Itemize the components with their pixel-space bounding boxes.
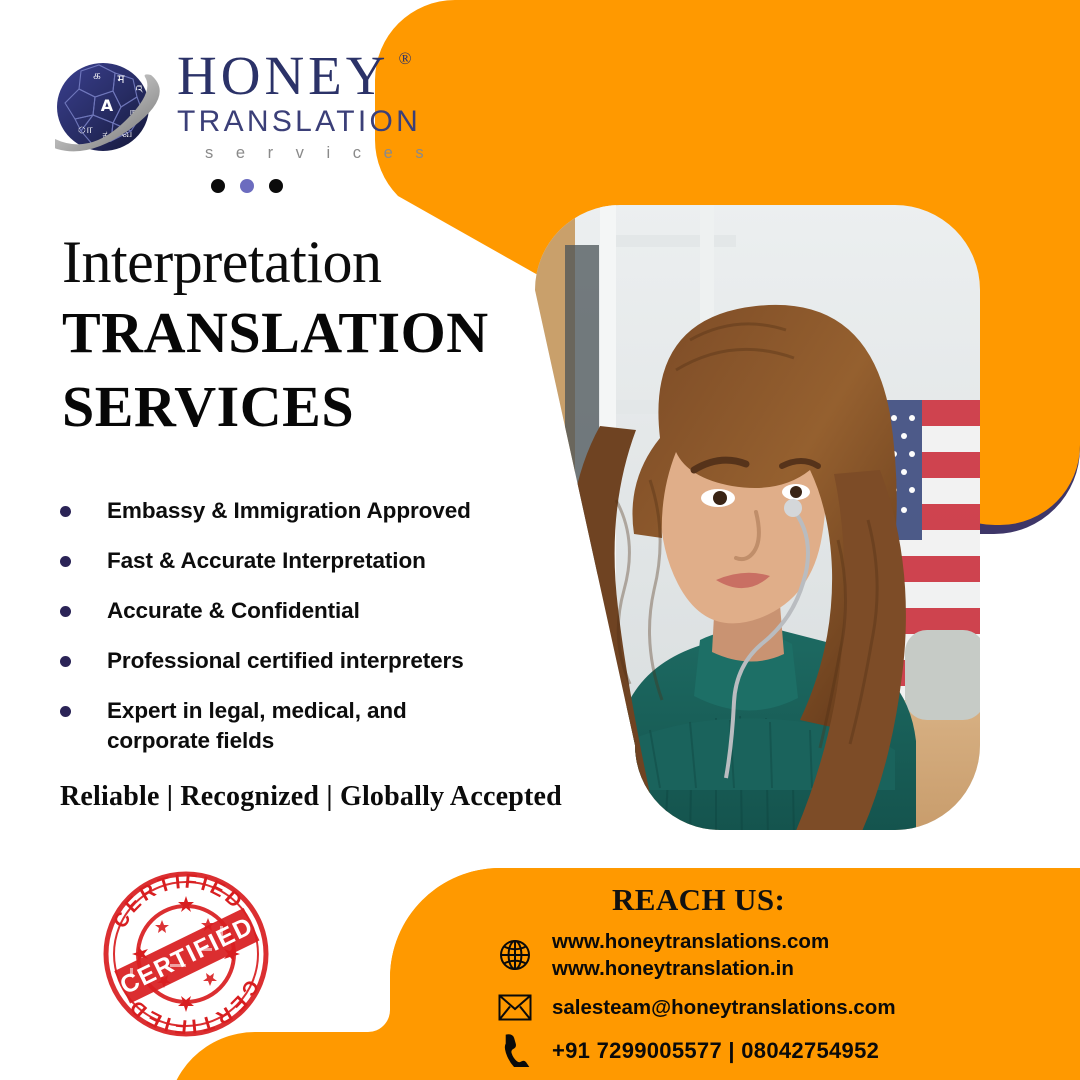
list-item: Fast & Accurate Interpretation [55, 546, 545, 576]
list-item: Expert in legal, medical, and corporate … [55, 696, 545, 756]
contact-row-email[interactable]: salesteam@honeytranslations.com [494, 994, 1014, 1021]
email-address[interactable]: salesteam@honeytranslations.com [552, 994, 896, 1021]
phone-numbers[interactable]: +91 7299005577 | 08042754952 [552, 1036, 879, 1065]
brand-logo: க म འ ઱ A ந ா ಕ வ HONEY ® TRANSLATION s … [55, 47, 455, 193]
logo-subtitle: TRANSLATION [177, 105, 433, 139]
bullet-dot-icon [60, 556, 71, 567]
page-title: Interpretation TRANSLATION SERVICES [62, 232, 532, 440]
logo-dots [55, 179, 455, 193]
headline-script: Interpretation [62, 232, 532, 292]
contact-details: www.honeytranslations.com www.honeytrans… [494, 928, 1014, 1079]
website-line-2[interactable]: www.honeytranslation.in [552, 957, 794, 980]
list-item: Accurate & Confidential [55, 596, 545, 626]
contact-row-website[interactable]: www.honeytranslations.com www.honeytrans… [494, 928, 1014, 982]
headline-bold-2: SERVICES [62, 374, 532, 440]
envelope-icon [494, 994, 536, 1021]
headline-bold-1: TRANSLATION [62, 300, 532, 366]
bullet-dot-icon [60, 656, 71, 667]
logo-dot-2 [240, 179, 254, 193]
list-item-label: Professional certified interpreters [107, 646, 464, 676]
list-item-label: Accurate & Confidential [107, 596, 360, 626]
svg-text:A: A [101, 96, 114, 115]
list-item: Embassy & Immigration Approved [55, 496, 545, 526]
bullet-dot-icon [60, 606, 71, 617]
feature-list: Embassy & Immigration Approved Fast & Ac… [55, 496, 545, 776]
svg-text:ா: ா [77, 122, 93, 136]
tagline: Reliable | Recognized | Globally Accepte… [60, 781, 562, 813]
logo-dot-3 [269, 179, 283, 193]
globe-languages-icon: க म འ ઱ A ந ா ಕ வ [55, 51, 163, 159]
logo-tertiary: s e r v i c e s [177, 144, 433, 163]
website-line-1[interactable]: www.honeytranslations.com [552, 930, 829, 953]
list-item: Professional certified interpreters [55, 646, 545, 676]
logo-wordmark: HONEY ® [177, 49, 389, 103]
svg-text:म: म [117, 72, 125, 86]
list-item-label: Expert in legal, medical, and corporate … [107, 696, 447, 756]
certified-stamp-icon: CERTIFIED CERTIFIED CERTIFIED [100, 868, 272, 1040]
list-item-label: Fast & Accurate Interpretation [107, 546, 426, 576]
contact-row-phone[interactable]: +91 7299005577 | 08042754952 [494, 1033, 1014, 1067]
bullet-dot-icon [60, 506, 71, 517]
svg-text:க: க [93, 68, 101, 82]
contact-heading: REACH US: [612, 882, 785, 918]
list-item-label: Embassy & Immigration Approved [107, 496, 471, 526]
registered-mark-icon: ® [399, 51, 412, 68]
logo-dot-1 [211, 179, 225, 193]
bullet-dot-icon [60, 706, 71, 717]
svg-text:འ: འ [136, 83, 144, 96]
interpreter-photo [535, 200, 985, 840]
phone-icon [494, 1033, 536, 1067]
globe-icon [494, 938, 536, 972]
